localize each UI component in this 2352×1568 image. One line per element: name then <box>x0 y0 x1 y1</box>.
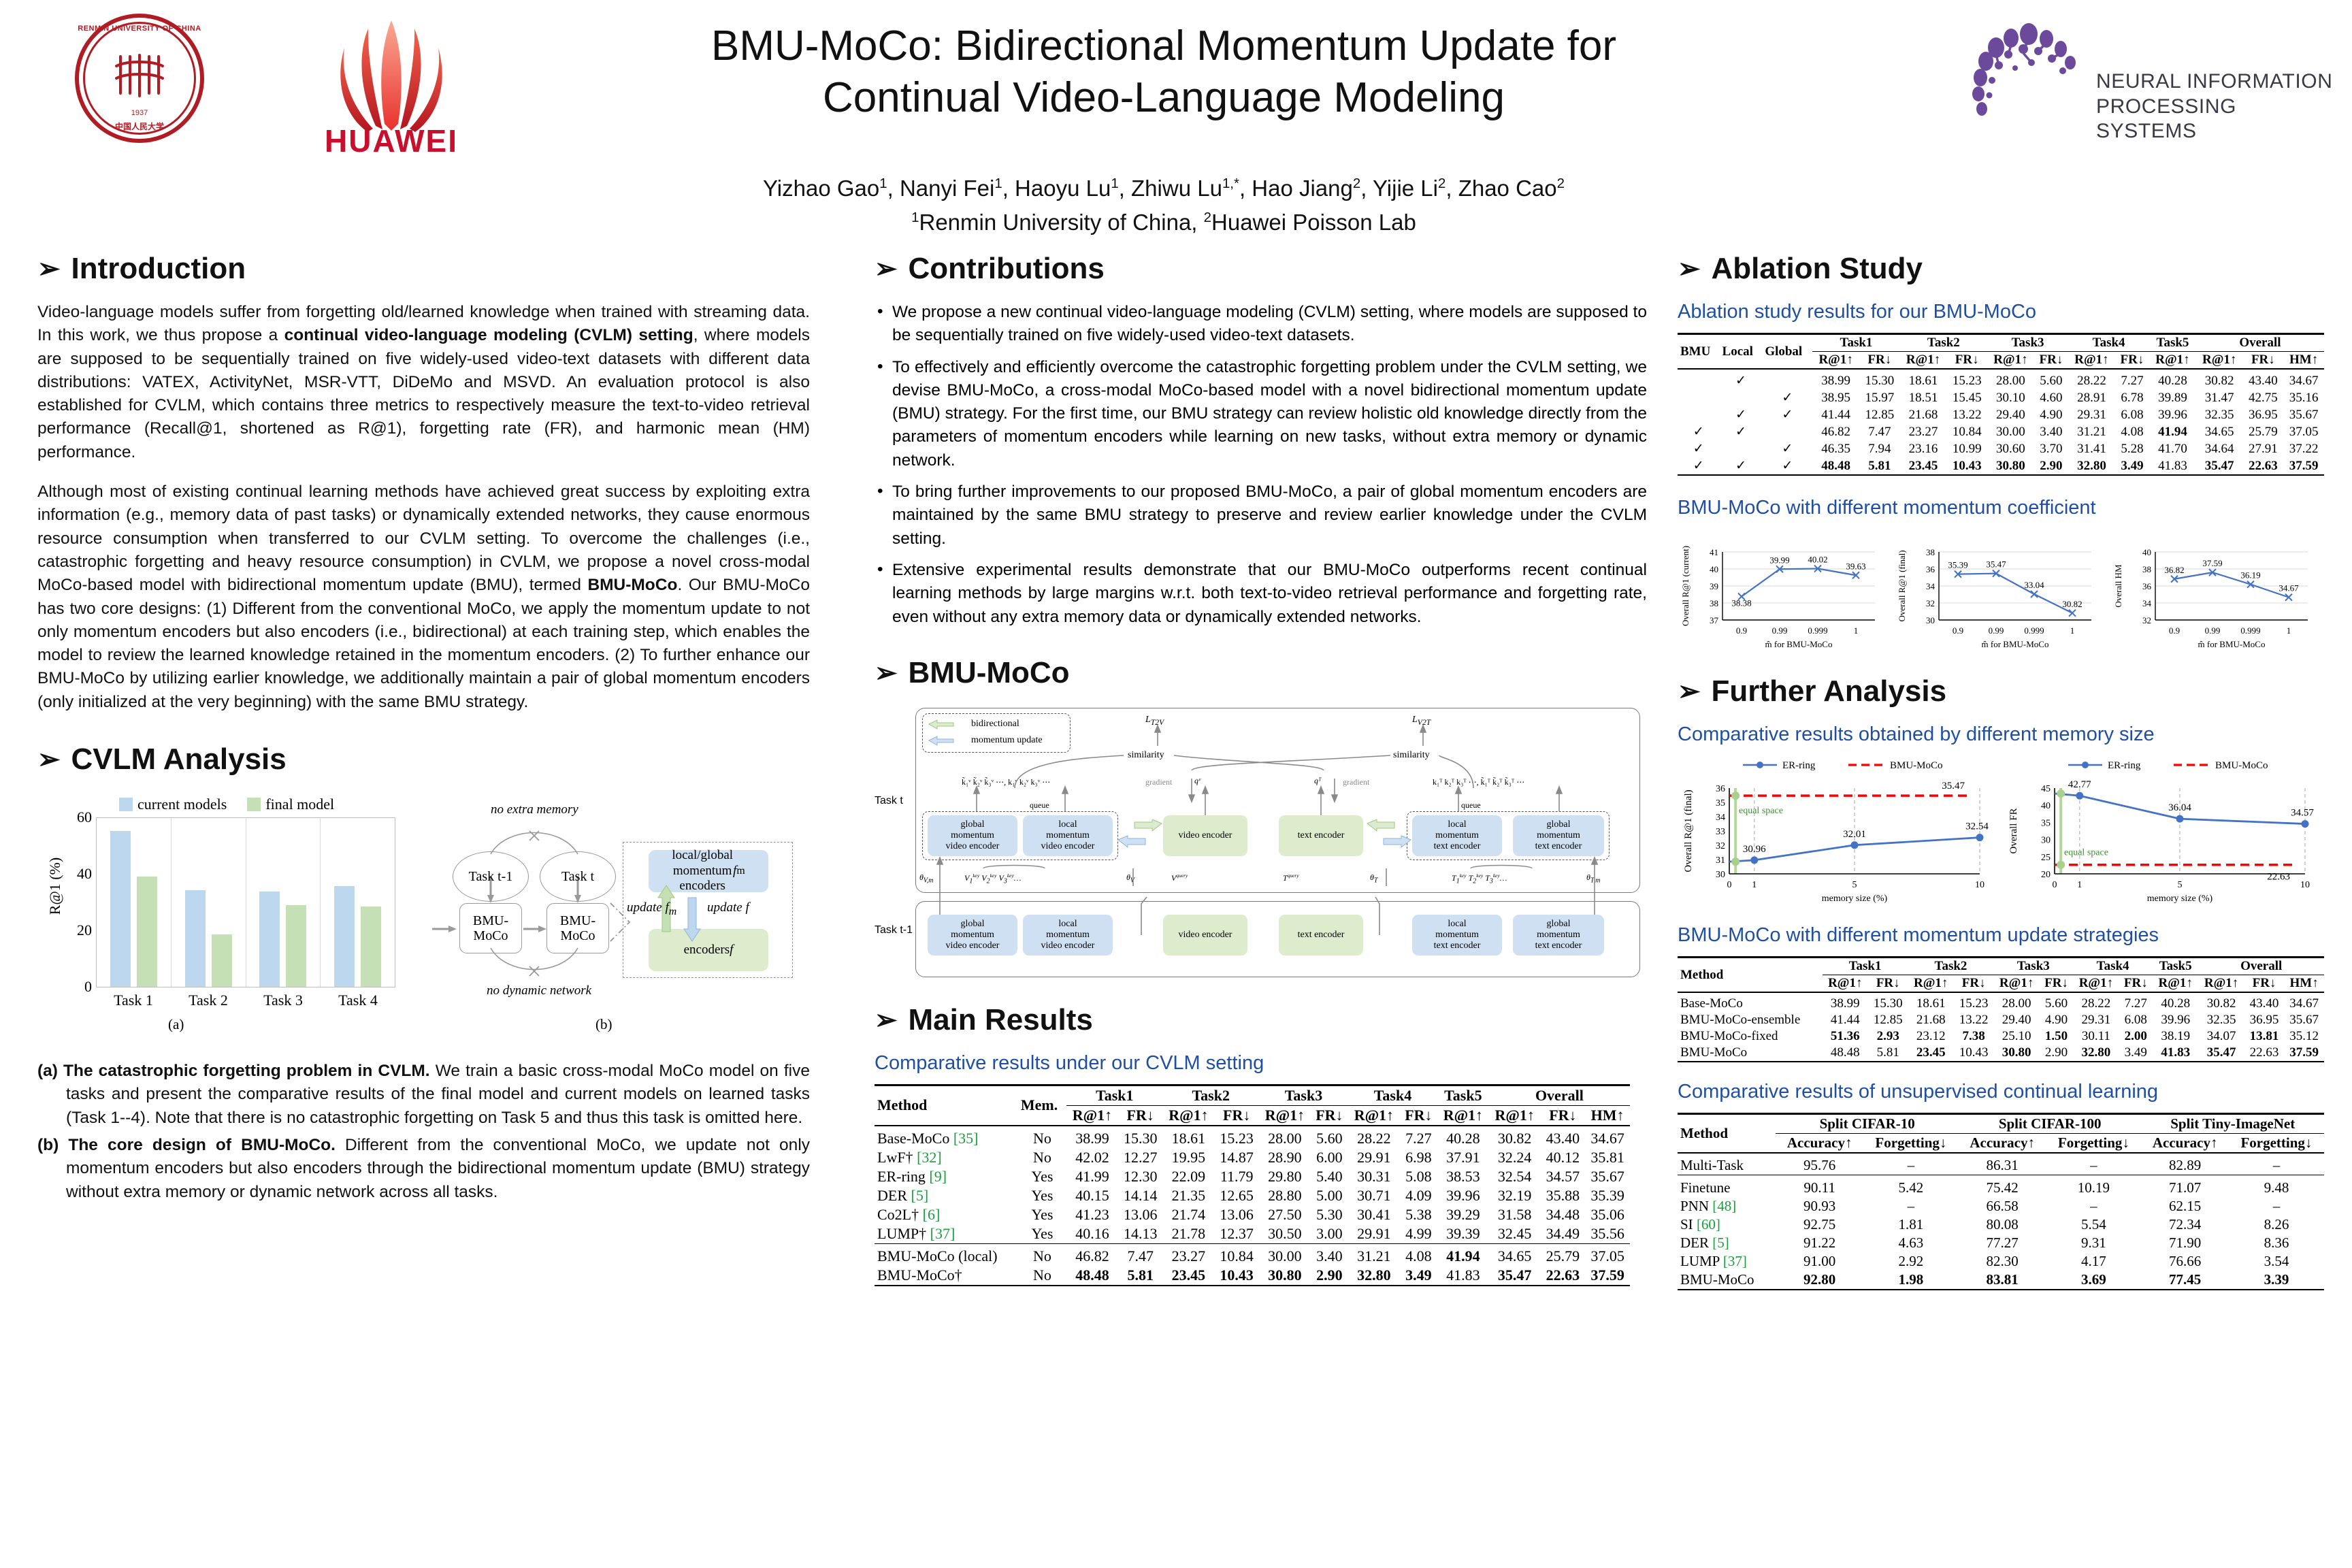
th-global: Global <box>1762 334 1812 370</box>
th-metric: R@1↑ <box>1163 1105 1215 1126</box>
svg-text:36: 36 <box>1926 564 1935 574</box>
cell-value: 34.07 <box>2198 1028 2244 1045</box>
cell-value: 21.68 <box>1900 406 1947 423</box>
cell-extra: Yes <box>1018 1167 1066 1186</box>
cell-local-check: ✓ <box>1720 423 1763 440</box>
cell-value: 38.53 <box>1437 1167 1489 1186</box>
cell-value: 91.22 <box>1776 1234 1863 1252</box>
cell-value: 5.00 <box>1311 1186 1348 1205</box>
introduction-paragraph-2: Although most of existing continual lear… <box>37 480 810 714</box>
cell-value: 41.44 <box>1823 1012 1868 1028</box>
svg-text:36.82: 36.82 <box>2164 565 2184 575</box>
cell-value: 4.63 <box>1863 1234 1959 1252</box>
table-row: PNN [48]90.93–66.58–62.15– <box>1678 1197 2324 1215</box>
cell-value: 32.24 <box>1489 1148 1541 1167</box>
legend-swatch-current <box>119 798 133 811</box>
bar-group-task4 <box>321 818 395 987</box>
cell-value: 39.89 <box>2149 389 2196 406</box>
cell-value: 35.67 <box>2284 1012 2324 1028</box>
cell-value: 35.12 <box>2284 1028 2324 1045</box>
table-row: BMU-MoCo92.801.9883.813.6977.453.39 <box>1678 1271 2324 1290</box>
th-metric: R@1↑ <box>1993 975 2039 993</box>
neurips-emblem-icon <box>1963 20 2093 122</box>
th-metric: FR↓ <box>2119 975 2153 993</box>
svg-text:35: 35 <box>1716 798 1725 808</box>
svg-text:1: 1 <box>2077 880 2082 890</box>
arch-prev-local-momentum-text-encoder: localmomentumtext encoder <box>1412 915 1502 955</box>
table-row: ✓✓46.827.4723.2710.8430.003.4031.214.084… <box>1678 423 2324 440</box>
th-group-task3: Task3 <box>1987 334 2068 352</box>
cell-value: 80.08 <box>1959 1215 2046 1234</box>
cell-value: 5.81 <box>1859 457 1900 475</box>
ablation-table: BMULocalGlobalTask1Task2Task3Task4Task5O… <box>1678 333 2324 476</box>
contributions-list: We propose a new continual video-languag… <box>875 301 1647 629</box>
cell-value: 35.47 <box>2198 1045 2244 1062</box>
cell-value: 31.21 <box>1348 1247 1400 1266</box>
cell-value: 30.00 <box>1987 423 2034 440</box>
arch-legend-line2: momentum update <box>971 735 1043 746</box>
cell-value: 39.96 <box>1437 1186 1489 1205</box>
cell-value: 32.80 <box>2068 457 2115 475</box>
cell-value: 4.99 <box>1400 1224 1437 1244</box>
ablation-title: Ablation Study <box>1712 252 1923 286</box>
cvlm-figure-row: current models final model 0 20 40 60 R@… <box>37 791 810 1050</box>
cell-value: 38.99 <box>1812 372 1859 389</box>
cell-value: 37.22 <box>2283 440 2324 457</box>
th-group-task4: Task4 <box>2073 958 2153 975</box>
cell-value: 2.93 <box>1868 1028 1908 1045</box>
svg-text:m̂ for BMU-MoCo: m̂ for BMU-MoCo <box>1982 639 2049 649</box>
svg-text:25: 25 <box>2041 853 2051 863</box>
svg-text:Overall R@1 (final): Overall R@1 (final) <box>1683 789 1694 872</box>
arch-qt: qᵀ <box>1314 776 1322 786</box>
th-metric: R@1↑ <box>1066 1105 1118 1126</box>
svg-text:36.19: 36.19 <box>2240 570 2260 581</box>
cell-value: 9.31 <box>2046 1234 2141 1252</box>
th-metric: Forgetting↓ <box>2229 1134 2324 1154</box>
cell-value: 40.16 <box>1066 1224 1118 1244</box>
cell-value: 32.80 <box>2073 1045 2119 1062</box>
cell-value: 35.47 <box>1489 1266 1541 1286</box>
cell-value: 2.00 <box>2119 1028 2153 1045</box>
th-bmu: BMU <box>1678 334 1720 370</box>
cell-value: 3.00 <box>1311 1224 1348 1244</box>
bar-final-task3 <box>286 905 306 987</box>
legend-swatch-final <box>247 798 261 811</box>
bar-group-task1 <box>97 818 171 987</box>
cell-method: Base-MoCo <box>1678 996 1823 1012</box>
legend-label-final: final model <box>265 796 334 813</box>
cell-value: 15.30 <box>1868 996 1908 1012</box>
memory-size-charts: ER-ringBMU-MoCo3031323334353635.4730.963… <box>1678 755 2327 912</box>
cell-value: 90.11 <box>1776 1179 1863 1197</box>
cell-value: 2.90 <box>2034 457 2068 475</box>
bmu-moco-architecture-diagram: Task t Task t-1 bidirectional momentum u… <box>875 705 1647 991</box>
svg-text:35.39: 35.39 <box>1948 560 1967 570</box>
cell-value: 30.00 <box>1259 1247 1311 1266</box>
column-middle: ➢ Contributions We propose a new continu… <box>875 252 1647 1287</box>
cell-value: 7.38 <box>1954 1028 1994 1045</box>
svg-text:equal space: equal space <box>1739 806 1783 816</box>
table-row: LUMP† [37]Yes40.1614.1321.7812.3730.503.… <box>875 1224 1630 1244</box>
table-row: LwF† [32]No42.0212.2719.9514.8728.906.00… <box>875 1148 1630 1167</box>
section-heading-introduction: ➢ Introduction <box>37 252 810 286</box>
cell-value: 12.85 <box>1859 406 1900 423</box>
cell-value: 5.60 <box>2034 372 2068 389</box>
th-metric: R@1↑ <box>2149 352 2196 370</box>
cell-value: 41.23 <box>1066 1205 1118 1224</box>
th-metric: Forgetting↓ <box>1863 1134 1959 1154</box>
th-group-task2: Task2 <box>1900 334 1987 352</box>
cell-value: 38.99 <box>1066 1129 1118 1148</box>
arch-prev-global-momentum-video-encoder: globalmomentumvideo encoder <box>928 915 1017 955</box>
intro-p2-part-c: . Our BMU-MoCo has two core designs: (1)… <box>37 576 810 710</box>
svg-text:32: 32 <box>2142 615 2151 625</box>
cvlm-analysis-title: CVLM Analysis <box>71 742 287 777</box>
main-results-title: Main Results <box>909 1003 1093 1037</box>
cell-value: 1.98 <box>1863 1271 1959 1290</box>
svg-text:39.99: 39.99 <box>1769 555 1789 565</box>
table-row: ✓✓46.357.9423.1610.9930.603.7031.415.284… <box>1678 440 2324 457</box>
cell-value: 3.40 <box>1311 1247 1348 1266</box>
cell-value: 23.27 <box>1900 423 1947 440</box>
chart-momentum-r1-final: 303234363835.3935.4733.0430.820.90.990.9… <box>1894 529 2098 655</box>
cell-value: 40.28 <box>2149 372 2196 389</box>
bar-final-task1 <box>137 877 157 987</box>
svg-text:34: 34 <box>2142 598 2152 608</box>
cell-method: BMU-MoCo† <box>875 1266 1018 1286</box>
cell-value: 41.94 <box>2149 423 2196 440</box>
cell-value: 66.58 <box>1959 1197 2046 1215</box>
list-item: We propose a new continual video-languag… <box>875 301 1647 348</box>
svg-text:equal space: equal space <box>2064 848 2108 858</box>
svg-text:0.9: 0.9 <box>2169 625 2180 636</box>
cell-value: 42.02 <box>1066 1148 1118 1167</box>
cell-value: 23.45 <box>1163 1266 1215 1286</box>
cell-value: 32.80 <box>1348 1266 1400 1286</box>
cell-value: – <box>1863 1197 1959 1215</box>
th-group-task2: Task2 <box>1163 1085 1259 1105</box>
th-metric: R@1↑ <box>2153 975 2198 993</box>
svg-text:Overall FR: Overall FR <box>2008 808 2019 853</box>
cvlm-captions: (a) The catastrophic forgetting problem … <box>37 1060 810 1204</box>
svg-text:34.67: 34.67 <box>2278 583 2299 593</box>
svg-text:30: 30 <box>1716 870 1725 880</box>
ablation-table-title: Ablation study results for our BMU-MoCo <box>1678 301 2327 323</box>
y-tick-60: 60 <box>77 808 92 826</box>
cell-value: 30.50 <box>1259 1224 1311 1244</box>
arch-prev-local-momentum-video-encoder: localmomentumvideo encoder <box>1023 915 1113 955</box>
cell-value: 13.22 <box>1946 406 1987 423</box>
node-model-prev: BMU-MoCo <box>459 903 522 953</box>
cell-local-check <box>1720 440 1763 457</box>
cell-value: 28.00 <box>1993 996 2039 1012</box>
cell-value: 5.08 <box>1400 1167 1437 1186</box>
svg-text:39: 39 <box>1710 581 1718 591</box>
arch-prev-text-encoder: text encoder <box>1279 915 1363 955</box>
subfigure-label-a: (a) <box>168 1016 184 1033</box>
strategies-table: MethodTask1Task2Task3Task4Task5OverallR@… <box>1678 956 2324 1063</box>
main-results-table-title: Comparative results under our CVLM setti… <box>875 1052 1647 1075</box>
cell-value: 29.40 <box>1993 1012 2039 1028</box>
svg-text:31: 31 <box>1716 855 1725 866</box>
arch-similarity-left: similarity <box>1128 750 1164 761</box>
column-left: ➢ Introduction Video-language models suf… <box>37 252 810 1204</box>
cell-value: 4.09 <box>1400 1186 1437 1205</box>
cell-value: 34.65 <box>1489 1247 1541 1266</box>
cell-value: 35.81 <box>1585 1148 1630 1167</box>
cell-value: 7.47 <box>1859 423 1900 440</box>
neurips-logo: NEURAL INFORMATION PROCESSING SYSTEMS <box>1963 20 2334 129</box>
cell-value: 30.11 <box>2073 1028 2119 1045</box>
memory-size-chart-title: Comparative results obtained by differen… <box>1678 723 2327 746</box>
cell-value: 12.37 <box>1214 1224 1259 1244</box>
cell-value: 10.19 <box>2046 1179 2141 1197</box>
cell-value: 43.40 <box>2244 996 2285 1012</box>
bullet-arrow-icon: ➢ <box>1678 253 1701 284</box>
line-chart-svg: ER-ringBMU-MoCo3031323334353635.4730.963… <box>1678 755 1991 905</box>
cell-value: 40.12 <box>1541 1148 1586 1167</box>
svg-text:0.999: 0.999 <box>2024 625 2044 636</box>
bar-chart-y-label: R@1 (%) <box>46 857 64 915</box>
cell-value: 90.93 <box>1776 1197 1863 1215</box>
cell-method: ER-ring [9] <box>875 1167 1018 1186</box>
cell-bmu-check <box>1678 389 1720 406</box>
cell-value: 4.60 <box>2034 389 2068 406</box>
intro-p1-part-c: , where models are supposed to be sequen… <box>37 326 810 461</box>
svg-text:m̂ for BMU-MoCo: m̂ for BMU-MoCo <box>2198 639 2266 649</box>
cell-value: 7.27 <box>1400 1129 1437 1148</box>
cell-value: 36.95 <box>2243 406 2284 423</box>
cell-value: 32.35 <box>2196 406 2243 423</box>
cell-value: 30.82 <box>1489 1129 1541 1148</box>
logo-university-name-en: RENMIN UNIVERSITY OF CHINA <box>75 24 204 33</box>
cell-value: 43.40 <box>2243 372 2284 389</box>
cell-value: 6.98 <box>1400 1148 1437 1167</box>
cell-value: 15.30 <box>1118 1129 1163 1148</box>
cell-value: – <box>2229 1197 2324 1215</box>
cell-value: 34.57 <box>1541 1167 1586 1186</box>
cell-value: 34.49 <box>1541 1224 1586 1244</box>
intro-p1-bold: continual video-language modeling (CVLM)… <box>284 326 693 344</box>
label-update-fm: update fm <box>627 900 676 918</box>
table-row: Base-MoCo38.9915.3018.6115.2328.005.6028… <box>1678 996 2324 1012</box>
list-item: To bring further improvements to our pro… <box>875 480 1647 551</box>
contributions-title: Contributions <box>909 252 1105 286</box>
cell-value: 82.89 <box>2141 1156 2228 1175</box>
further-analysis-title: Further Analysis <box>1712 674 1947 708</box>
cell-value: 35.39 <box>1585 1186 1630 1205</box>
cell-value: 29.40 <box>1987 406 2034 423</box>
arch-prev-global-momentum-text-encoder: globalmomentumtext encoder <box>1513 915 1604 955</box>
title-line-2: Continual Video-Language Modeling <box>823 74 1505 121</box>
th-group-task1: Task1 <box>1823 958 1908 975</box>
th-metric: R@1↑ <box>1908 975 1954 993</box>
bar-current-task4 <box>334 886 355 987</box>
y-tick-40: 40 <box>77 865 92 883</box>
cell-value: 28.91 <box>2068 389 2115 406</box>
svg-text:5: 5 <box>1852 880 1857 890</box>
th-metric: FR↓ <box>2040 975 2073 993</box>
svg-text:memory size (%): memory size (%) <box>2147 894 2213 904</box>
cell-value: 86.31 <box>1959 1156 2046 1175</box>
cell-method: BMU-MoCo (local) <box>875 1247 1018 1266</box>
cell-value: 32.54 <box>1489 1167 1541 1186</box>
section-heading-bmu-moco: ➢ BMU-MoCo <box>875 656 1647 690</box>
cell-value: 3.49 <box>1400 1266 1437 1286</box>
th-metric: FR↓ <box>1311 1105 1348 1126</box>
cell-value: 4.90 <box>2034 406 2068 423</box>
cell-value: 6.08 <box>2115 406 2149 423</box>
svg-text:37.59: 37.59 <box>2202 558 2222 568</box>
cell-value: 27.50 <box>1259 1205 1311 1224</box>
cell-global-check <box>1762 423 1812 440</box>
cell-value: 34.67 <box>1585 1129 1630 1148</box>
svg-text:40.02: 40.02 <box>1808 555 1827 565</box>
bar-chart-x-labels: Task 1 Task 2 Task 3 Task 4 <box>96 992 395 1009</box>
section-heading-further-analysis: ➢ Further Analysis <box>1678 674 2327 708</box>
svg-text:40: 40 <box>2142 547 2151 557</box>
cell-value: 15.23 <box>1954 996 1994 1012</box>
caption-a: (a) The catastrophic forgetting problem … <box>37 1060 810 1130</box>
cell-value: 32.19 <box>1489 1186 1541 1205</box>
section-heading-contributions: ➢ Contributions <box>875 252 1647 286</box>
cell-value: 29.91 <box>1348 1148 1400 1167</box>
cell-value: 41.83 <box>2149 457 2196 475</box>
cell-local-check: ✓ <box>1720 406 1763 423</box>
cell-value: 15.30 <box>1859 372 1900 389</box>
cell-value: 18.51 <box>1900 389 1947 406</box>
cell-value: 36.95 <box>2244 1012 2285 1028</box>
neurips-wordmark: NEURAL INFORMATION PROCESSING SYSTEMS <box>2096 69 2334 144</box>
bar-current-task1 <box>110 831 131 987</box>
cell-value: 30.10 <box>1987 389 2034 406</box>
legend-arrows-icon <box>925 717 967 750</box>
cell-value: 25.79 <box>1541 1247 1586 1266</box>
svg-text:Overall R@1 (current): Overall R@1 (current) <box>1680 546 1690 626</box>
table-row: Co2L† [6]Yes41.2313.0621.7413.0627.505.3… <box>875 1205 1630 1224</box>
cell-value: 23.45 <box>1900 457 1947 475</box>
cell-value: 13.06 <box>1118 1205 1163 1224</box>
page-title: BMU-MoCo: Bidirectional Momentum Update … <box>517 20 1810 123</box>
cell-value: 75.42 <box>1959 1179 2046 1197</box>
table-row: ✓38.9515.9718.5115.4530.104.6028.916.783… <box>1678 389 2324 406</box>
arch-legend-line1: bidirectional <box>971 719 1019 730</box>
th-group-task4: Task4 <box>1348 1085 1437 1105</box>
svg-text:10: 10 <box>1975 880 1984 890</box>
cell-local-check: ✓ <box>1720 372 1763 389</box>
cell-value: 31.21 <box>2068 423 2115 440</box>
th-metric: FR↓ <box>1859 352 1900 370</box>
bmu-core-design-diagram: no extra memory Task t-1 Task t BMU-MoCo… <box>432 801 800 1026</box>
svg-text:ER-ring: ER-ring <box>2108 760 2141 771</box>
cell-value: 15.97 <box>1859 389 1900 406</box>
svg-text:34: 34 <box>1716 813 1725 823</box>
cell-method: DER [5] <box>1678 1234 1776 1252</box>
th-dataset: Split CIFAR-10 <box>1776 1114 1959 1134</box>
legend-label-current: current models <box>137 796 227 813</box>
bmu-arrows-left-icon <box>1114 819 1166 853</box>
cell-value: 40.15 <box>1066 1186 1118 1205</box>
cell-value: 72.34 <box>2141 1215 2228 1234</box>
cell-value: 35.67 <box>1585 1167 1630 1186</box>
th-metric: R@1↑ <box>1348 1105 1400 1126</box>
cell-value: 51.36 <box>1823 1028 1868 1045</box>
svg-text:36: 36 <box>2142 581 2152 591</box>
svg-text:30.82: 30.82 <box>2062 599 2082 609</box>
cell-value: 31.41 <box>2068 440 2115 457</box>
cell-value: 5.42 <box>1863 1179 1959 1197</box>
cell-value: 13.22 <box>1954 1012 1994 1028</box>
arch-queue-left: queue <box>1030 800 1049 811</box>
cell-method: BMU-MoCo-fixed <box>1678 1028 1823 1045</box>
th-group-task3: Task3 <box>1259 1085 1348 1105</box>
cell-value: 3.40 <box>2034 423 2068 440</box>
th-group-overall: Overall <box>1489 1085 1630 1105</box>
cell-value: 5.81 <box>1118 1266 1163 1286</box>
arch-gradient-right: gradient <box>1343 777 1369 787</box>
cell-value: 10.43 <box>1954 1045 1994 1062</box>
arch-qv: qᵛ <box>1194 776 1200 786</box>
cell-value: 1.81 <box>1863 1215 1959 1234</box>
table-row: BMU-MoCo†No48.485.8123.4510.4330.802.903… <box>875 1266 1630 1286</box>
cell-value: 43.40 <box>1541 1129 1586 1148</box>
cell-value: 12.65 <box>1214 1186 1259 1205</box>
cell-bmu-check <box>1678 372 1720 389</box>
svg-text:36.04: 36.04 <box>2168 802 2191 813</box>
th-metric: R@1↑ <box>1823 975 1868 993</box>
cell-value: 38.19 <box>2153 1028 2198 1045</box>
cell-value: 23.45 <box>1908 1045 1954 1062</box>
cell-global-check: ✓ <box>1762 406 1812 423</box>
cell-value: 19.95 <box>1163 1148 1215 1167</box>
cell-method: DER [5] <box>875 1186 1018 1205</box>
svg-text:Overall HM: Overall HM <box>2113 564 2123 608</box>
cell-value: 31.58 <box>1489 1205 1541 1224</box>
cell-value: 21.35 <box>1163 1186 1215 1205</box>
svg-text:38.38: 38.38 <box>1731 598 1751 608</box>
cell-value: 62.15 <box>2141 1197 2228 1215</box>
cell-value: 46.82 <box>1812 423 1859 440</box>
bullet-arrow-icon: ➢ <box>37 744 61 775</box>
cell-bmu-check <box>1678 406 1720 423</box>
cell-value: 91.00 <box>1776 1252 1863 1271</box>
svg-text:32: 32 <box>1926 598 1935 608</box>
cell-value: 41.83 <box>1437 1266 1489 1286</box>
cell-value: 32.45 <box>1489 1224 1541 1244</box>
svg-text:32: 32 <box>1716 841 1725 851</box>
table-row: ✓✓✓48.485.8123.4510.4330.802.9032.803.49… <box>1678 457 2324 475</box>
cell-value: 30.82 <box>2196 372 2243 389</box>
th-group-task5: Task5 <box>2153 958 2198 975</box>
th-group-overall: Overall <box>2198 958 2324 975</box>
svg-text:34.57: 34.57 <box>2291 808 2314 819</box>
table-row: Base-MoCo [35]No38.9915.3018.6115.2328.0… <box>875 1129 1630 1148</box>
bmu-arrows-right-icon <box>1363 819 1415 853</box>
cell-value: 41.44 <box>1812 406 1859 423</box>
svg-text:0.999: 0.999 <box>2240 625 2260 636</box>
cell-value: 48.48 <box>1066 1266 1118 1286</box>
arch-t-query: Tquery <box>1283 872 1299 883</box>
table-row: ✓✓41.4412.8521.6813.2229.404.9029.316.08… <box>1678 406 2324 423</box>
cell-value: 6.00 <box>1311 1148 1348 1167</box>
cell-value: 39.96 <box>2153 1012 2198 1028</box>
cell-value: 18.61 <box>1908 996 1954 1012</box>
arch-global-momentum-text-encoder: globalmomentumtext encoder <box>1513 815 1604 856</box>
cell-value: 28.22 <box>2068 372 2115 389</box>
cell-value: 8.26 <box>2229 1215 2324 1234</box>
th-mem-: Mem. <box>1018 1085 1066 1126</box>
